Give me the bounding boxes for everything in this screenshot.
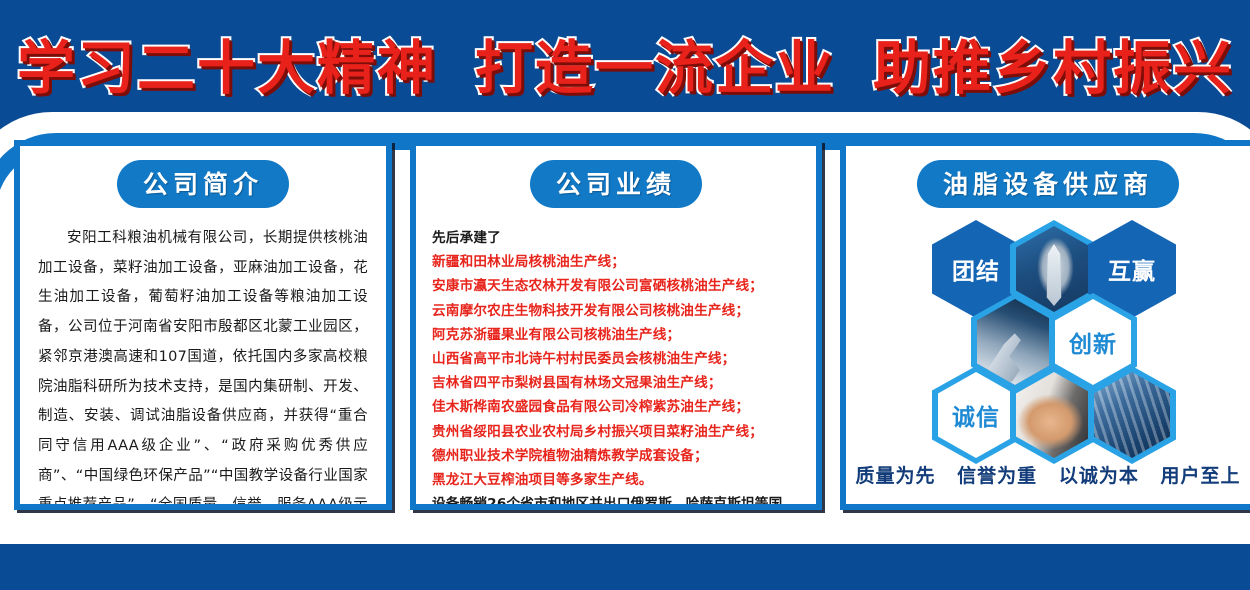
robot-hand-icon [977, 299, 1053, 385]
achievement-item: 阿克苏浙疆果业有限公司核桃油生产线； [432, 323, 800, 347]
panel-title-badge-profile: 公司简介 [117, 160, 289, 208]
slogan-word: 用户至上 [1160, 465, 1240, 487]
hex-label: 互赢 [1108, 252, 1156, 286]
hex-inner [977, 299, 1053, 385]
headline-part-2: 打造一流企业 [475, 21, 835, 105]
achievements-list: 先后承建了 新疆和田林业局核桃油生产线； 安康市瀛天生态农林开发有限公司富硒核桃… [432, 226, 800, 510]
supplier-slogan: 质量为先 信誉为重 以诚为本 用户至上 [846, 461, 1250, 488]
achievement-item: 德州职业技术学院植物油精炼教学成套设备； [432, 444, 800, 468]
headline-part-3: 助推乡村振兴 [873, 21, 1233, 105]
headline-part-1: 学习二十大精神 [17, 21, 437, 105]
slogan-word: 信誉为重 [957, 465, 1037, 487]
poster-canvas: 学习二十大精神 打造一流企业 助推乡村振兴 公司简介 安阳工科粮油机械有限公司，… [0, 0, 1250, 590]
footer-navy-strip [0, 544, 1250, 590]
hex-inner [1094, 372, 1170, 458]
hex-label: 团结 [952, 252, 1000, 286]
hex-label: 创新 [1069, 325, 1117, 359]
panel-company-achievements: 公司业绩 先后承建了 新疆和田林业局核桃油生产线； 安康市瀛天生态农林开发有限公… [410, 140, 822, 510]
slogan-word: 质量为先 [856, 465, 936, 487]
office-tower-icon [1094, 372, 1170, 458]
hex-inner [1016, 226, 1092, 312]
panel-title-badge-achievements: 公司业绩 [530, 160, 702, 208]
achievement-item: 吉林省四平市梨树县国有林场文冠果油生产线； [432, 371, 800, 395]
company-profile-text: 安阳工科粮油机械有限公司，长期提供核桃油加工设备，菜籽油加工设备，亚麻油加工设备… [38, 224, 368, 510]
slogan-word: 以诚为本 [1059, 465, 1139, 487]
achievement-item: 山西省高平市北诗午村村民委员会核桃油生产线； [432, 347, 800, 371]
achievement-item: 黑龙江大豆榨油项目等多家生产线。 [432, 468, 800, 492]
achievements-tail-line: 设备畅销26个省市和地区并出口俄罗斯、哈萨克斯坦等国家。 [432, 492, 800, 510]
hex-inner [1016, 372, 1092, 458]
poster-headline: 学习二十大精神 打造一流企业 助推乡村振兴 [0, 24, 1250, 102]
achievement-item: 贵州省绥阳县农业农村局乡村振兴项目菜籽油生产线； [432, 420, 800, 444]
panel-supplier-values: 油脂设备供应商 团结 互赢 [840, 140, 1250, 510]
achievement-item: 新疆和田林业局核桃油生产线； [432, 250, 800, 274]
panel-company-profile: 公司简介 安阳工科粮油机械有限公司，长期提供核桃油加工设备，菜籽油加工设备，亚麻… [14, 140, 392, 510]
handshake-icon [1016, 372, 1092, 458]
hexagon-cluster: 团结 互赢 [846, 216, 1250, 466]
aircraft-carrier-icon [1016, 226, 1092, 312]
achievement-item: 安康市瀛天生态农林开发有限公司富硒核桃油生产线； [432, 274, 800, 298]
achievement-item: 佳木斯桦南农盛园食品有限公司冷榨紫苏油生产线； [432, 395, 800, 419]
achievement-item: 云南摩尔农庄生物科技开发有限公司核桃油生产线； [432, 299, 800, 323]
panel-title-badge-supplier: 油脂设备供应商 [917, 160, 1179, 208]
achievements-lead: 先后承建了 [432, 226, 800, 250]
hex-label: 诚信 [952, 398, 1000, 432]
panel-row: 公司简介 安阳工科粮油机械有限公司，长期提供核桃油加工设备，菜籽油加工设备，亚麻… [0, 140, 1250, 510]
